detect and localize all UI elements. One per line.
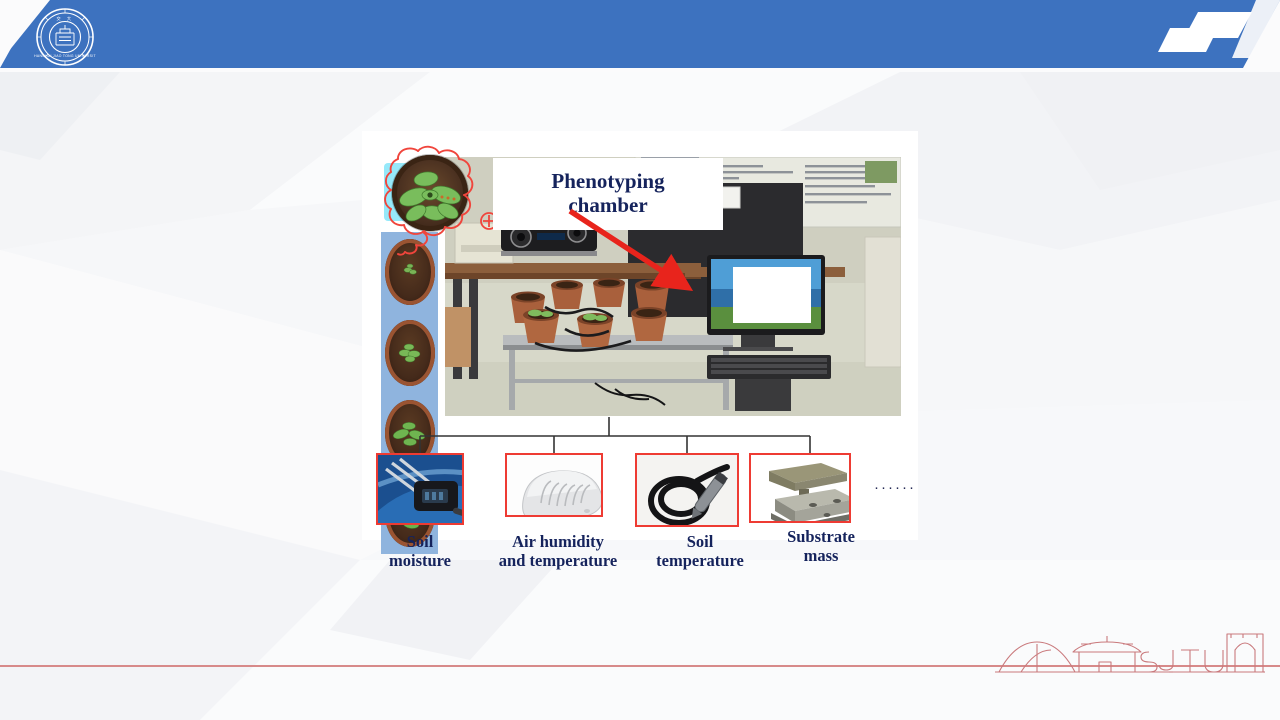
soil-temperature-line2: temperature [639, 551, 761, 570]
substrate-mass-line2: mass [761, 546, 881, 565]
sensor-label-soil-temperature: Soil temperature [639, 532, 761, 571]
more-sensors-ellipsis: ······ [874, 479, 916, 496]
soil-temperature-line1: Soil [639, 532, 761, 551]
sensor-label-soil-moisture: Soil moisture [364, 532, 476, 571]
substrate-mass-line1: Substrate [761, 527, 881, 546]
sensor-label-substrate-mass: Substrate mass [761, 527, 881, 566]
svg-text:SHANGHAI JIAO TONG UNIVERSITY: SHANGHAI JIAO TONG UNIVERSITY [34, 54, 96, 58]
svg-text:交 大: 交 大 [56, 15, 73, 22]
sensor-label-air-humidity-temperature: Air humidity and temperature [476, 532, 640, 571]
pheno-title-line1: Phenotyping [551, 170, 664, 194]
sjtu-seal-logo: SHANGHAI JIAO TONG UNIVERSITY 交 大 [34, 7, 96, 67]
air-humidity-line2: and temperature [476, 551, 640, 570]
header-band [0, 0, 1280, 72]
sjtu-campus-skyline-graphic [995, 622, 1265, 680]
soil-moisture-line2: moisture [364, 551, 476, 570]
air-humidity-line1: Air humidity [476, 532, 640, 551]
soil-moisture-line1: Soil [364, 532, 476, 551]
diagram-card: 上海交通大学 [362, 131, 918, 540]
red-pointer-arrow [562, 201, 762, 341]
